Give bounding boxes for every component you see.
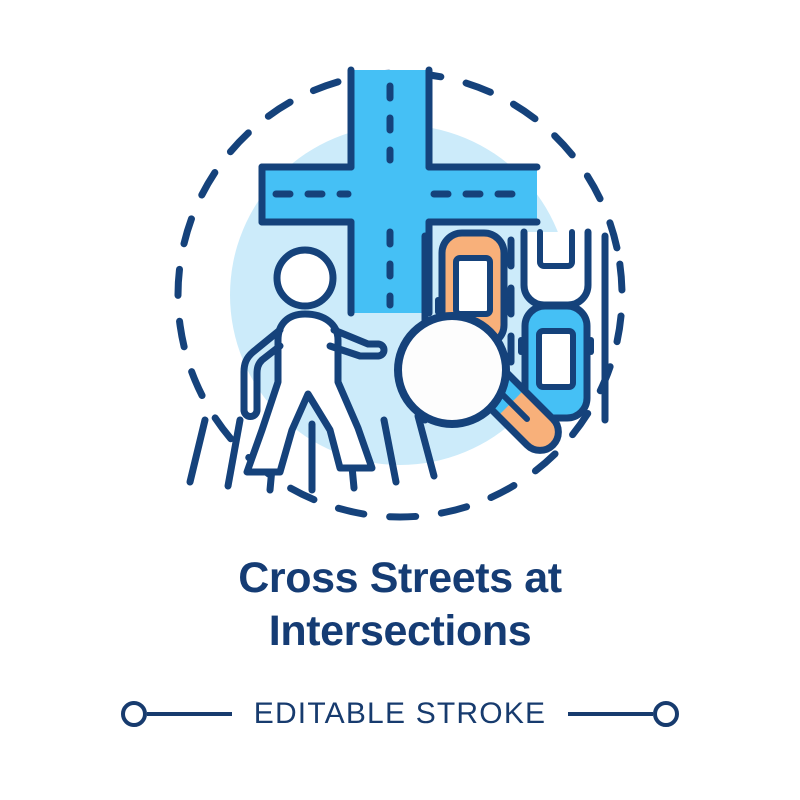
rule-right-divider <box>568 712 653 716</box>
title-line-2: Intersections <box>0 605 800 658</box>
ring-right-icon <box>653 701 679 727</box>
ring-left-icon <box>121 701 147 727</box>
title-line-1: Cross Streets at <box>0 552 800 605</box>
illustration-area <box>0 0 800 545</box>
illustration-svg <box>0 0 800 545</box>
editable-stroke-banner: EDITABLE STROKE <box>0 690 800 738</box>
editable-stroke-label: EDITABLE STROKE <box>232 697 569 731</box>
concept-icon-card: Cross Streets at Intersections EDITABLE … <box>0 0 800 800</box>
car-outline-icon <box>524 232 588 305</box>
rule-left-divider <box>147 712 232 716</box>
page-title: Cross Streets at Intersections <box>0 552 800 658</box>
